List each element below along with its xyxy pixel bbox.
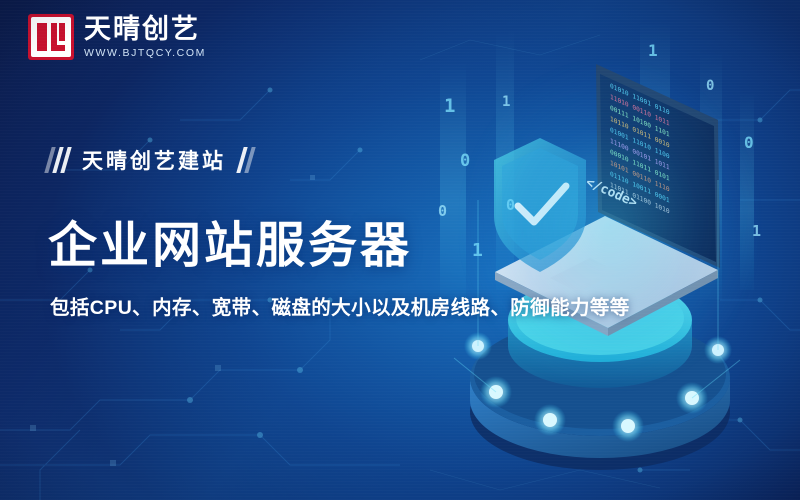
tq-monogram-icon [28,14,74,60]
page-title: 企业网站服务器 [48,206,412,277]
slash-right-decoration [240,147,252,173]
page-subtitle: 包括CPU、内存、宽带、磁盘的大小以及机房线路、防御能力等等 [50,291,630,320]
slash-left-decoration [48,147,68,173]
banner-image: 01010 11001 0110 11010 00110 1011 00111 … [0,0,800,500]
logo-text-cn: 天晴创艺 [84,16,206,43]
svg-text:1: 1 [648,41,658,60]
site-logo[interactable]: 天晴创艺 WWW.BJTQCY.COM [28,14,206,60]
server-illustration: 01010 11001 0110 11010 00110 1011 00111 … [400,20,800,490]
svg-text:1: 1 [444,95,455,117]
logo-text-en: WWW.BJTQCY.COM [84,48,206,59]
tagline-label: 天晴创艺建站 [82,145,226,175]
illustration-glow [460,60,760,390]
svg-text:0: 0 [438,202,447,220]
tagline: 天晴创艺建站 [48,142,252,178]
